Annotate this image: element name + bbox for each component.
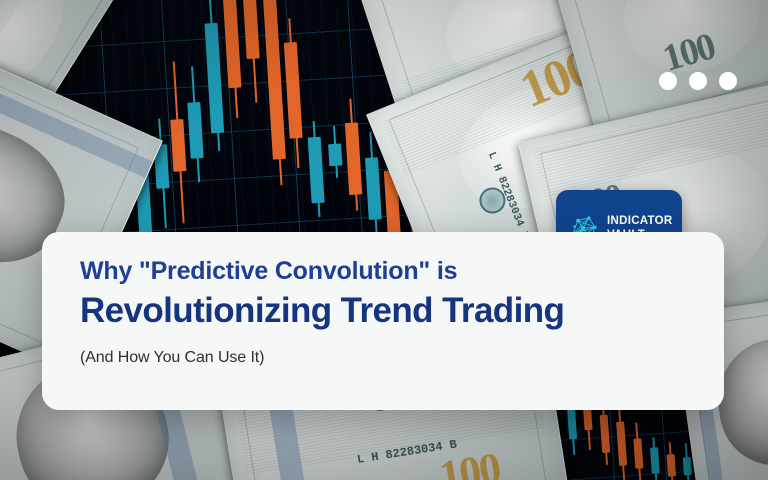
hero-graphic: 100 100 L H 82283034 B 100 100 100	[0, 0, 768, 480]
three-dot-accent	[659, 72, 737, 90]
logo-wordmark-line1: INDICATOR	[607, 215, 673, 227]
card-kicker: Why "Predictive Convolution" is	[80, 258, 724, 286]
accent-dot	[689, 72, 707, 90]
card-subline: (And How You Can Use It)	[80, 349, 724, 367]
candlestick-body	[328, 143, 342, 166]
candlestick-body	[667, 454, 677, 477]
accent-dot	[659, 72, 677, 90]
candlestick-body	[650, 447, 660, 473]
card-headline: Revolutionizing Trend Trading	[80, 291, 724, 330]
headline-card: Why "Predictive Convolution" is Revoluti…	[42, 232, 724, 410]
candlestick-body	[683, 457, 692, 476]
accent-dot	[719, 72, 737, 90]
